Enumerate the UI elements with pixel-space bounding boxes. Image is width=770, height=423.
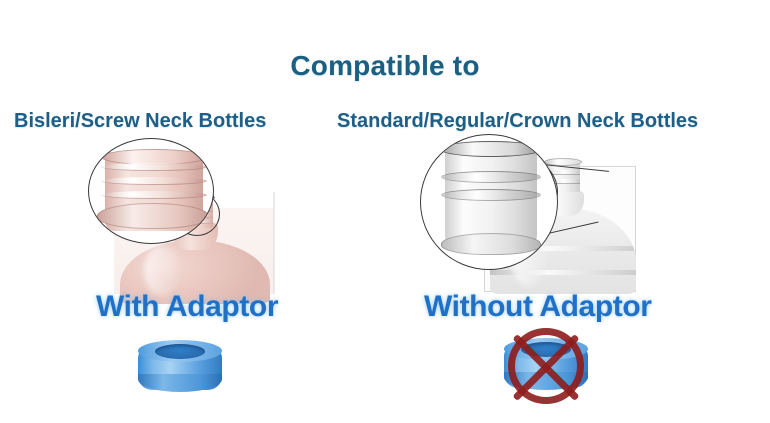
photo-screw-neck-bottle — [86, 136, 304, 294]
slide-canvas: Compatible to Bisleri/Screw Neck Bottles… — [0, 0, 770, 423]
prohibition-no-entry-icon — [492, 330, 600, 404]
caption-without-adaptor: Without Adaptor — [424, 290, 652, 324]
photo-crown-neck-bottle — [424, 136, 674, 296]
magnifier-circle-left — [88, 138, 214, 244]
blue-adaptor-icon — [138, 340, 222, 394]
magnifier-circle-right — [420, 134, 558, 270]
subtitle-right-bottle-type: Standard/Regular/Crown Neck Bottles — [337, 110, 698, 133]
subtitle-left-bottle-type: Bisleri/Screw Neck Bottles — [14, 110, 266, 133]
page-title: Compatible to — [0, 50, 770, 82]
caption-with-adaptor: With Adaptor — [96, 290, 278, 324]
